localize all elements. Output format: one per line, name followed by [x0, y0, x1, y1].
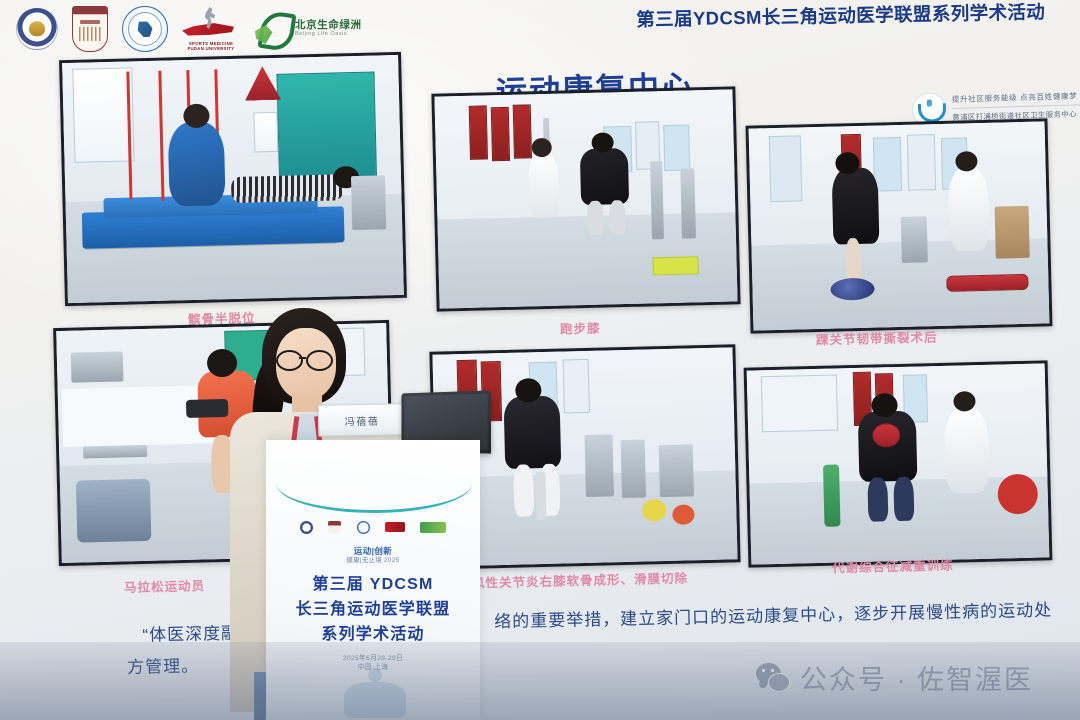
podium-logo-5-icon: [420, 522, 446, 533]
photo-2-caption: 跑步膝: [560, 318, 601, 338]
presentation-slide: 运动康复中心 提升社区服务能级 点亮百姓健康梦 黄浦区打浦桥街道社区卫生服务中心: [56, 28, 1064, 628]
watermark: 公众号 · 佐智渥医: [756, 658, 1033, 697]
photo-patella-subluxation: [59, 52, 407, 306]
podium-tagline-main: 运动|创新: [266, 546, 480, 556]
wechat-icon: [756, 663, 790, 692]
watermark-text: 公众号 · 佐智渥医: [800, 658, 1033, 697]
conference-photo-screenshot: SPORTS MEDICINE FUDAN UNIVERSITY 北京生命绿洲 …: [0, 0, 1080, 720]
photo-5-caption: 风性关节炎右膝软骨成形、滑膜切除: [472, 567, 688, 591]
photo-runners-knee: [431, 86, 740, 311]
podium-logo-2-icon: [328, 521, 341, 534]
podium-logo-3-icon: [357, 521, 370, 534]
podium-title-line1: 第三届 YDCSM: [266, 572, 480, 597]
speaker-glasses-left: [276, 350, 303, 371]
photo-6-caption: 代谢综合征减重训练: [832, 555, 954, 577]
podium-logo-1-icon: [300, 521, 313, 534]
speaker-nameplate: 冯蓓蓓: [318, 403, 407, 437]
podium-tagline-sub: 健康|无止境 2025: [266, 556, 480, 566]
podium-title: 第三届 YDCSM 长三角运动医学联盟 系列学术活动: [266, 572, 480, 647]
photo-3-caption: 踝关节韧带撕裂术后: [816, 327, 938, 349]
photo-metabolic-weight-training: [744, 360, 1053, 567]
speaker-glasses-bridge: [299, 357, 306, 359]
speaker-name-text: 冯蓓蓓: [345, 412, 380, 428]
podium-tagline: 运动|创新 健康|无止境 2025: [266, 546, 480, 566]
podium-logo-row: [300, 520, 446, 534]
podium-title-line2: 长三角运动医学联盟: [266, 597, 480, 622]
speaker-glasses-right: [306, 350, 333, 371]
photo-ankle-ligament-postop: [746, 118, 1053, 333]
podium-swoosh-graphic: [276, 454, 472, 513]
podium-logo-4-icon: [385, 522, 405, 532]
university-emblem-round-icon: [16, 8, 58, 50]
sub-logo-line1: 提升社区服务能级 点亮百姓健康梦: [952, 89, 1080, 105]
photo-4-caption: 马拉松运动员: [124, 575, 205, 596]
